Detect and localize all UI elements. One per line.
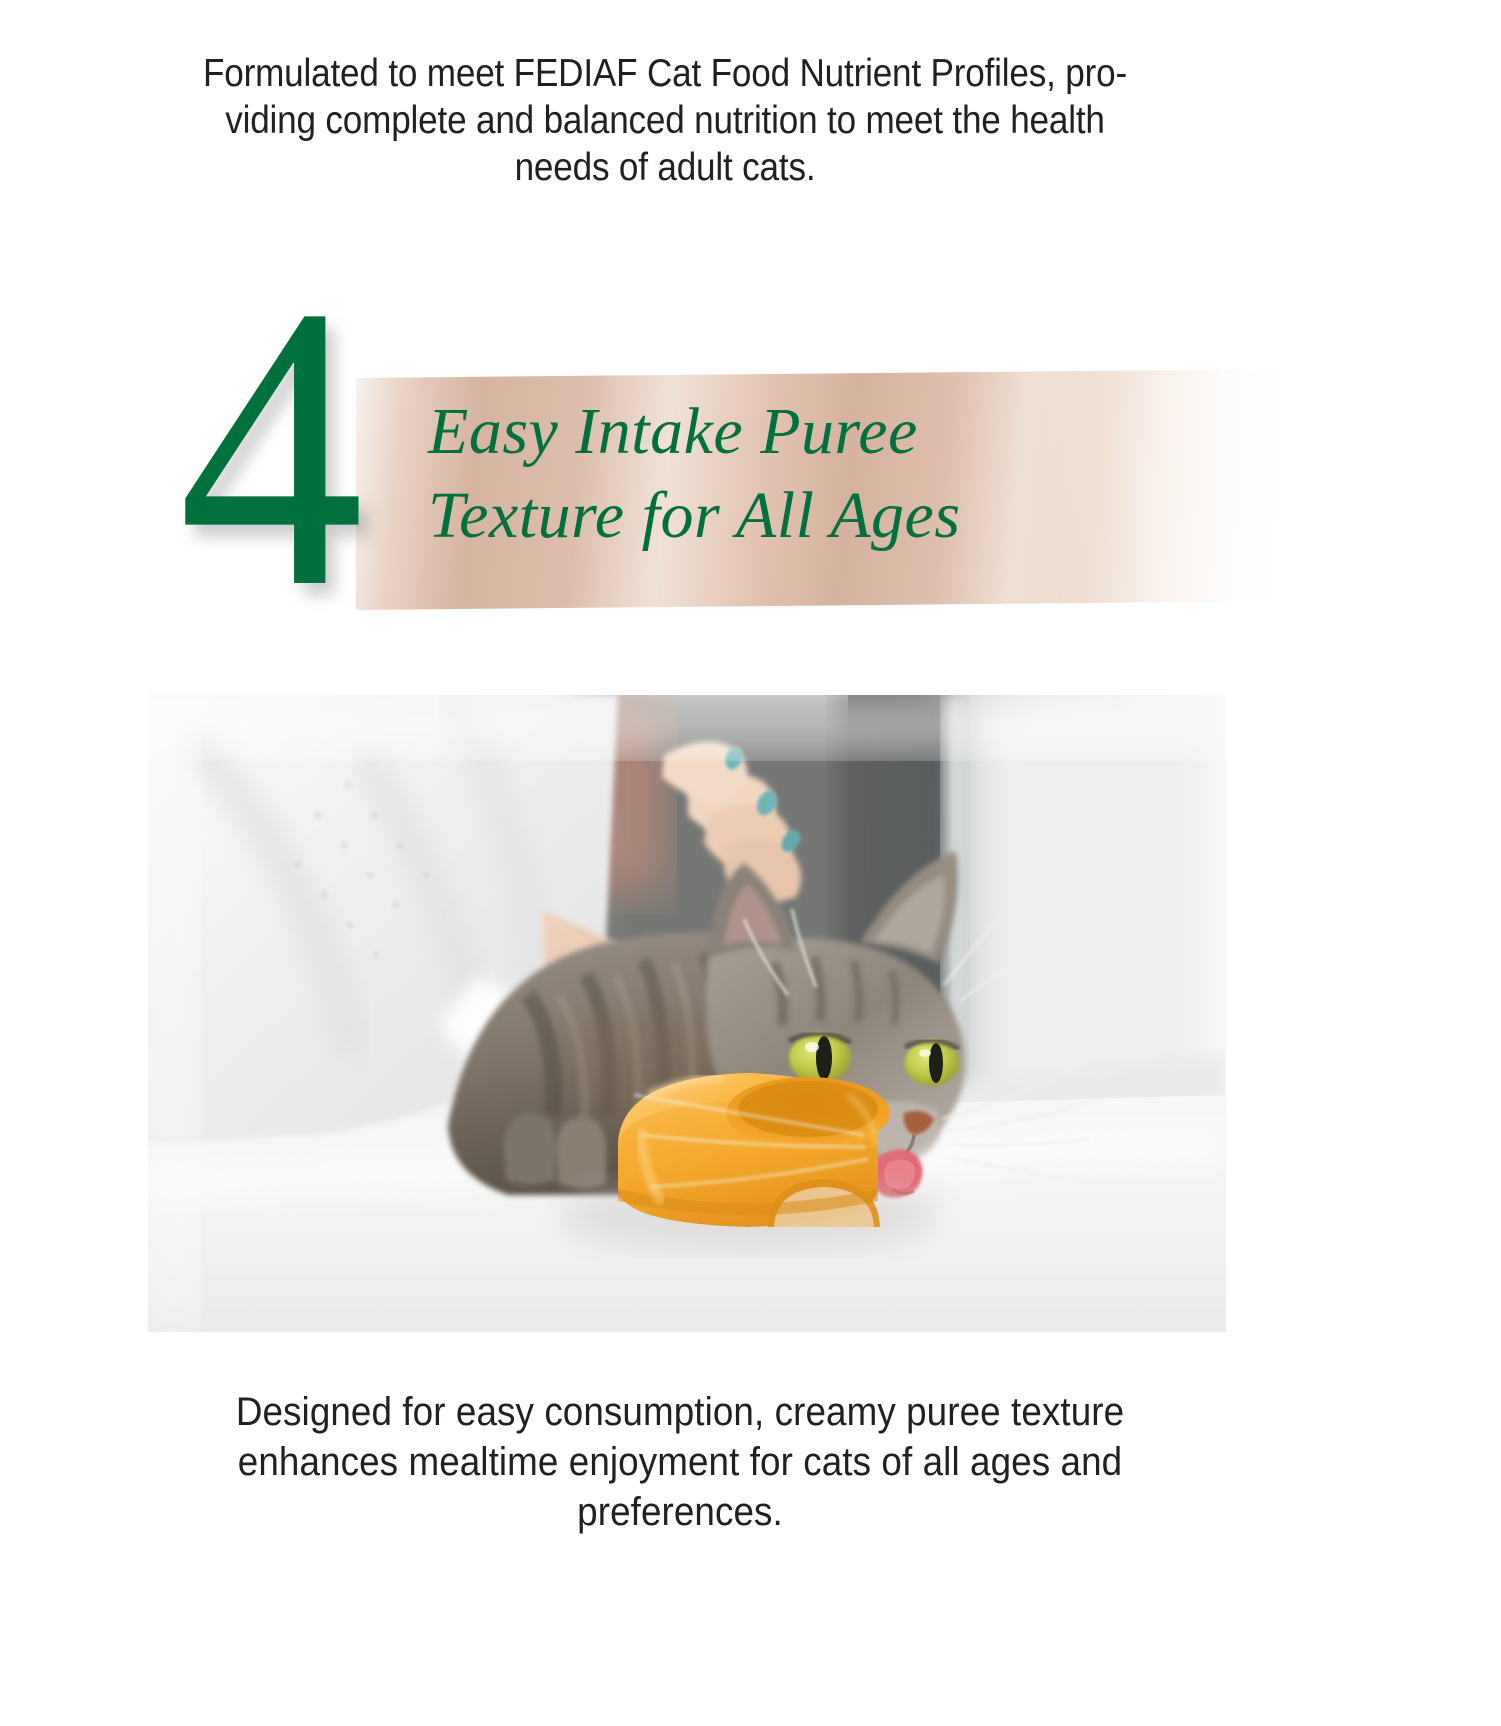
feature-number: 4 xyxy=(178,244,364,649)
cat-eye-left xyxy=(789,1033,851,1083)
cat-eating-illustration xyxy=(148,695,1226,1332)
caption-line-3: preferences. xyxy=(165,1487,1195,1537)
feature-heading: Easy Intake Puree Texture for All Ages 4 xyxy=(0,270,1501,650)
cat-eating-photo xyxy=(148,695,1226,1332)
intro-line-3: needs of adult cats. xyxy=(188,144,1142,191)
caption-line-2: enhances mealtime enjoyment for cats of … xyxy=(165,1437,1195,1487)
caption-paragraph: Designed for easy consumption, creamy pu… xyxy=(120,1387,1240,1537)
intro-line-2: viding complete and balanced nutrition t… xyxy=(188,97,1142,144)
banner-title-line-1: Easy Intake Puree xyxy=(428,390,1208,474)
banner-title: Easy Intake Puree Texture for All Ages xyxy=(428,390,1208,558)
caption-line-1: Designed for easy consumption, creamy pu… xyxy=(165,1387,1195,1437)
cat-eye-right xyxy=(905,1040,959,1086)
intro-paragraph: Formulated to meet FEDIAF Cat Food Nutri… xyxy=(135,50,1195,191)
banner-title-line-2: Texture for All Ages xyxy=(428,474,1208,558)
intro-line-1: Formulated to meet FEDIAF Cat Food Nutri… xyxy=(188,50,1142,97)
